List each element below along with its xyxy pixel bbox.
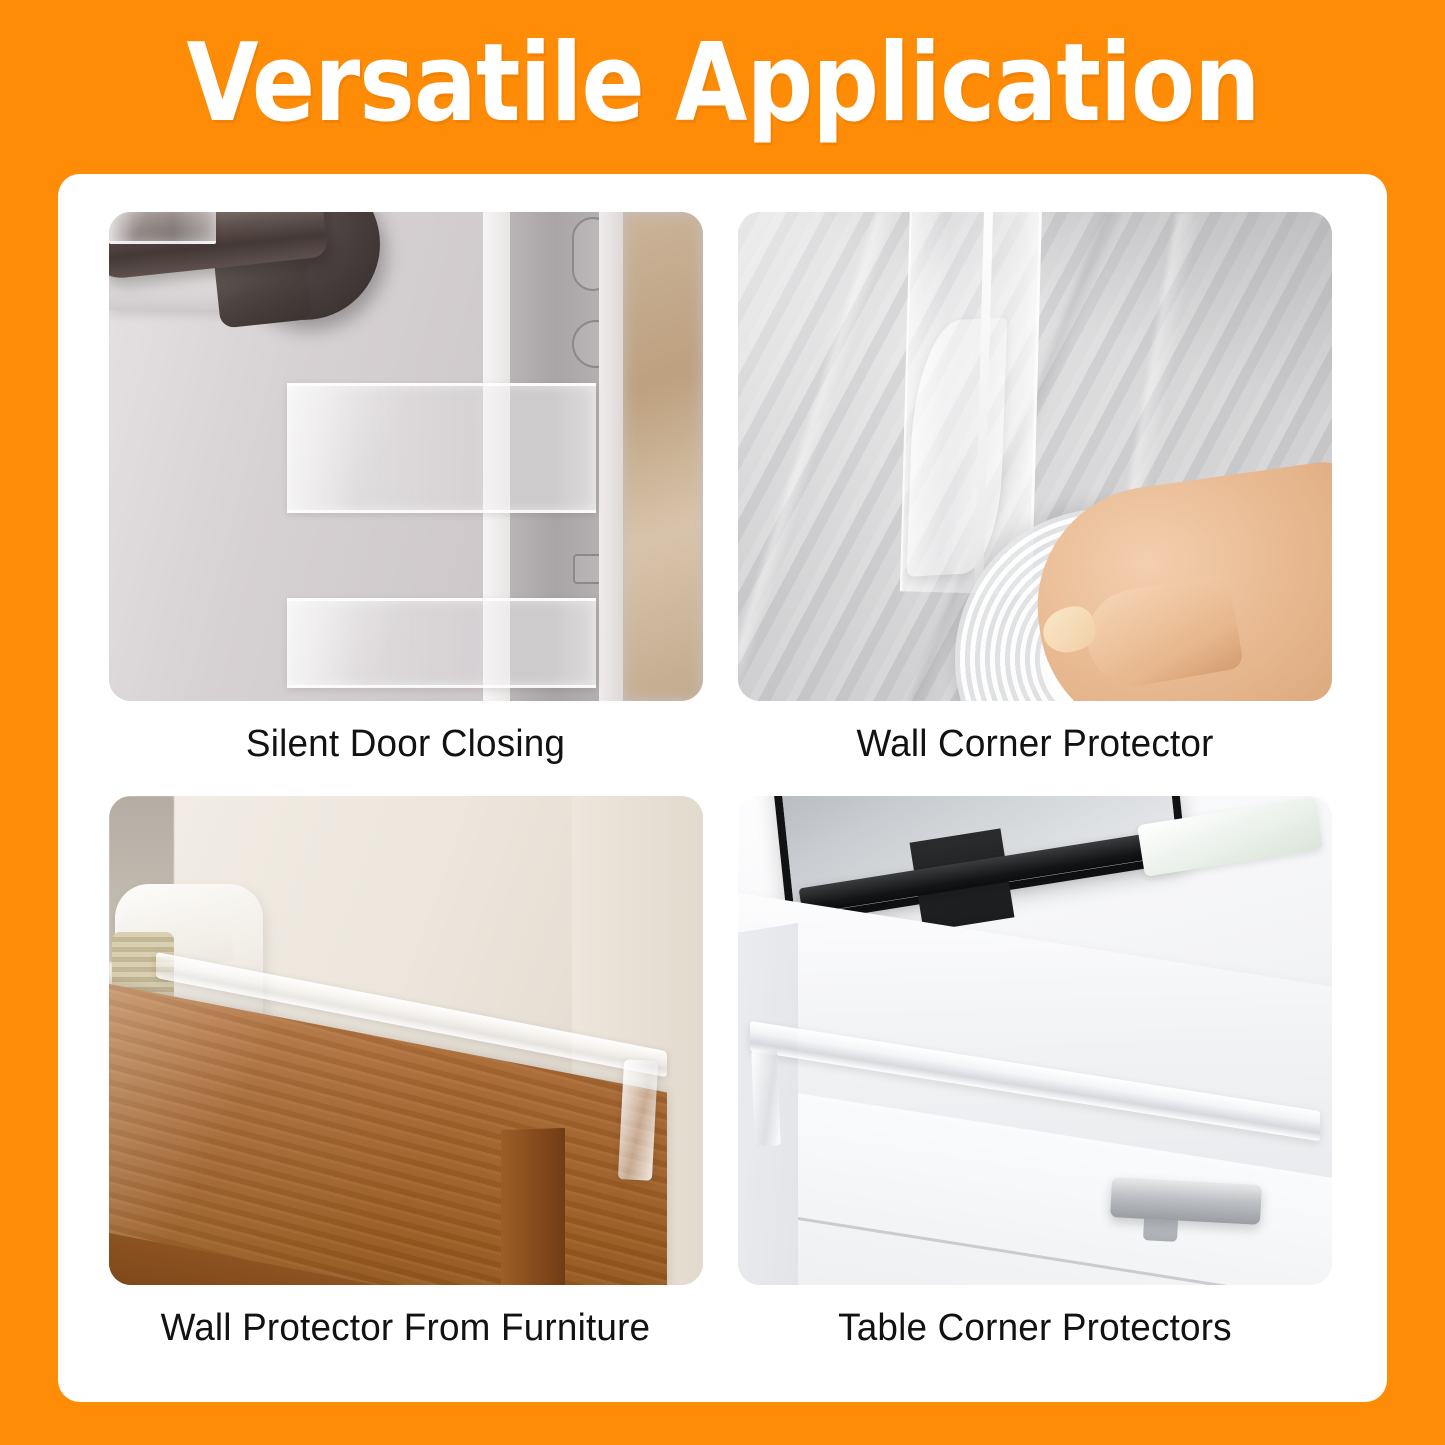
panel-wall-corner-protector[interactable]: Wall Corner Protector <box>730 212 1342 786</box>
corner-protector-lower <box>287 598 596 688</box>
protector-sheen <box>109 212 216 241</box>
drawer-handle[interactable] <box>1110 1178 1262 1226</box>
panel-caption: Table Corner Protectors <box>838 1307 1232 1350</box>
header-banner: Versatile Application <box>0 0 1445 174</box>
protector-sheen <box>287 601 596 685</box>
blurred-warm-background <box>623 212 703 701</box>
panel-caption: Wall Corner Protector <box>857 723 1214 766</box>
clear-edge-protector-corner <box>751 1050 780 1147</box>
photo-table-corner-protectors[interactable] <box>738 796 1332 1285</box>
desk-leg <box>501 1127 565 1285</box>
panel-table-corner-protectors[interactable]: Table Corner Protectors <box>730 796 1342 1370</box>
corner-protector-middle <box>287 383 596 513</box>
corner-protector-top <box>109 212 216 244</box>
panel-grid: Silent Door Closing Wall Corner Protecto… <box>58 174 1387 1402</box>
content-card: Silent Door Closing Wall Corner Protecto… <box>58 174 1387 1402</box>
panel-caption: Silent Door Closing <box>246 723 565 766</box>
photo-wall-corner-protector[interactable] <box>738 212 1332 701</box>
protector-sheen <box>287 386 596 510</box>
jamb-highlight <box>599 212 623 701</box>
clear-edge-protector-corner <box>618 1059 658 1181</box>
page-title: Versatile Application <box>186 30 1259 144</box>
panel-silent-door-closing[interactable]: Silent Door Closing <box>100 212 712 786</box>
panel-caption: Wall Protector From Furniture <box>161 1307 651 1350</box>
photo-silent-door-closing[interactable] <box>109 212 703 701</box>
photo-wall-protector-from-furniture[interactable] <box>109 796 703 1285</box>
panel-wall-protector-from-furniture[interactable]: Wall Protector From Furniture <box>100 796 712 1370</box>
